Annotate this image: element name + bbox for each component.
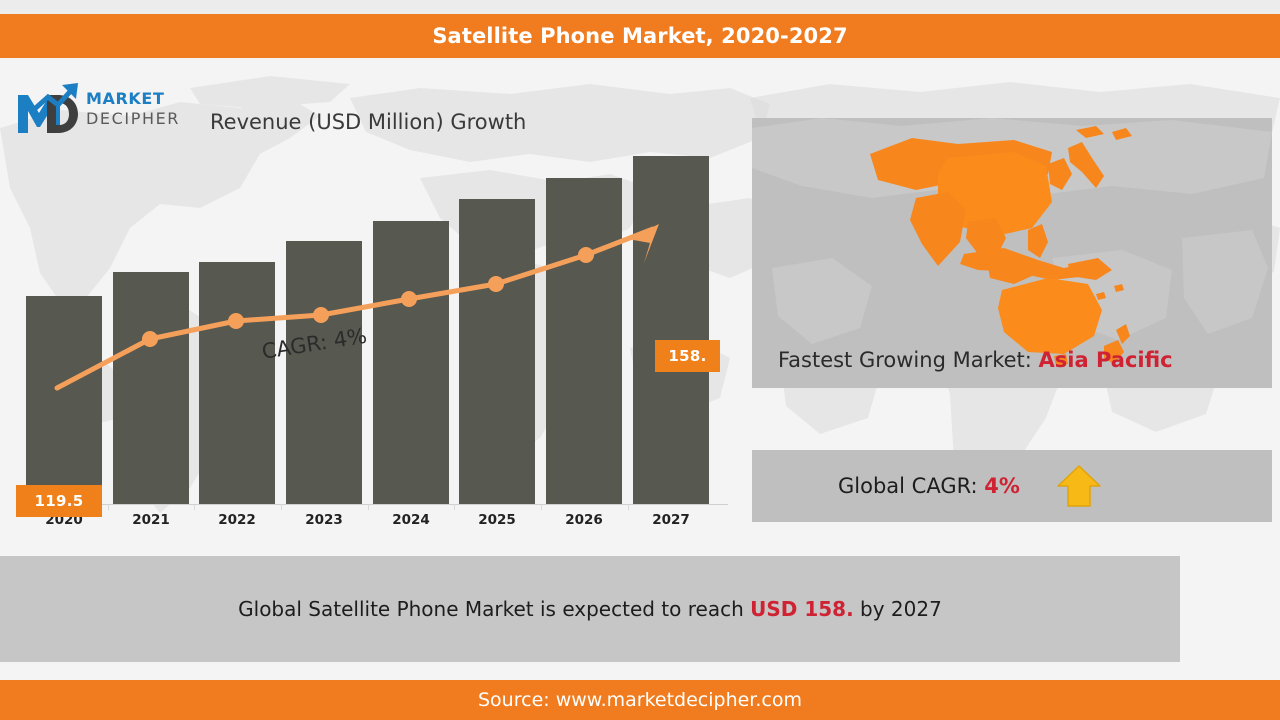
trend-marker (488, 276, 504, 292)
md-monogram-icon (14, 83, 84, 139)
value-callout-2020: 119.5 (16, 485, 102, 517)
trend-marker (313, 307, 329, 323)
trend-marker (401, 291, 417, 307)
source-bar: Source: www.marketdecipher.com (0, 680, 1280, 720)
statement-prefix: Global Satellite Phone Market is expecte… (238, 597, 750, 621)
market-statement-text: Global Satellite Phone Market is expecte… (238, 597, 942, 621)
global-cagr-label: Global CAGR: (838, 474, 984, 498)
apac-highlight (870, 126, 1132, 366)
fastest-growing-market-panel: Fastest Growing Market: Asia Pacific (752, 118, 1272, 388)
market-statement-banner: Global Satellite Phone Market is expecte… (0, 556, 1180, 662)
source-text: Source: www.marketdecipher.com (478, 689, 802, 711)
up-arrow-icon (1056, 464, 1102, 508)
top-spacer (0, 0, 1280, 14)
chart-title: Revenue (USD Million) Growth (210, 110, 526, 134)
global-cagr-text: Global CAGR: 4% (838, 474, 1020, 498)
logo-line-1: MARKET (86, 89, 164, 108)
caption-value: Asia Pacific (1039, 348, 1173, 372)
global-cagr-panel: Global CAGR: 4% (752, 450, 1272, 522)
trend-marker (228, 313, 244, 329)
statement-suffix: by 2027 (854, 597, 942, 621)
fastest-growing-market-caption: Fastest Growing Market: Asia Pacific (778, 348, 1173, 372)
value-callout-2027: 158. (655, 340, 720, 372)
brand-logo: MARKET DECIPHER (14, 83, 186, 145)
caption-prefix: Fastest Growing Market: (778, 348, 1039, 372)
page-title: Satellite Phone Market, 2020-2027 (432, 24, 847, 48)
bar-chart: 2020 2021 2022 2023 2024 2025 2026 2027 … (0, 150, 745, 540)
title-bar: Satellite Phone Market, 2020-2027 (0, 14, 1280, 58)
logo-line-2: DECIPHER (86, 109, 180, 128)
trend-marker (578, 247, 594, 263)
trend-marker (142, 331, 158, 347)
statement-highlight: USD 158. (750, 597, 854, 621)
infographic-canvas: Satellite Phone Market, 2020-2027 MARKET… (0, 0, 1280, 720)
global-cagr-value: 4% (984, 474, 1020, 498)
